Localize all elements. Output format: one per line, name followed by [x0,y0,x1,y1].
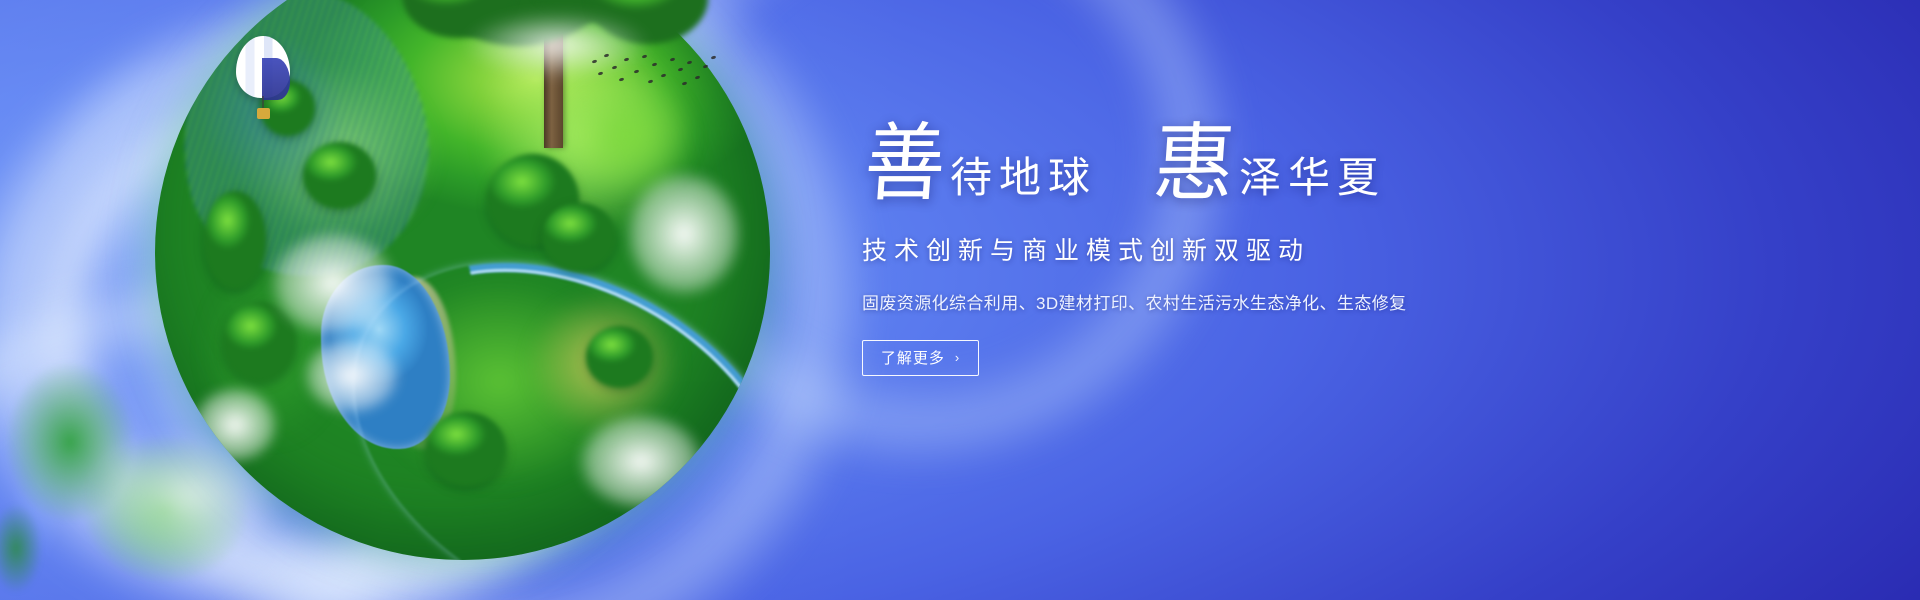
cloud-shape [290,326,413,424]
hero-banner: 善 待地球 惠 泽华夏 技术创新与商业模式创新双驱动 固废资源化综合利用、3D建… [0,0,1920,600]
headline-rest-2: 泽华夏 [1239,157,1386,205]
headline-brush-char-2: 惠 [1151,123,1250,205]
banner-copy: 善 待地球 惠 泽华夏 技术创新与商业模式创新双驱动 固废资源化综合利用、3D建… [862,132,1562,376]
learn-more-label: 了解更多 [881,347,945,368]
headline-rest-1: 待地球 [950,157,1097,205]
headline-brush-char-1: 善 [862,123,961,205]
hot-air-balloon-icon [236,36,290,122]
cloud-shape [610,154,758,314]
cloud-shape [180,376,291,474]
bush-cluster [426,412,506,486]
learn-more-button[interactable]: 了解更多 › [862,340,979,376]
bush-cluster [586,326,654,388]
banner-description: 固废资源化综合利用、3D建材打印、农村生活污水生态净化、生态修复 [862,289,1562,314]
birds-flock-icon [590,52,720,96]
cloud-shape [561,400,721,523]
chevron-right-icon: › [955,350,960,365]
bush-cluster [542,203,616,271]
headline: 善 待地球 惠 泽华夏 [862,132,1562,205]
banner-subtitle: 技术创新与商业模式创新双驱动 [862,231,1562,267]
